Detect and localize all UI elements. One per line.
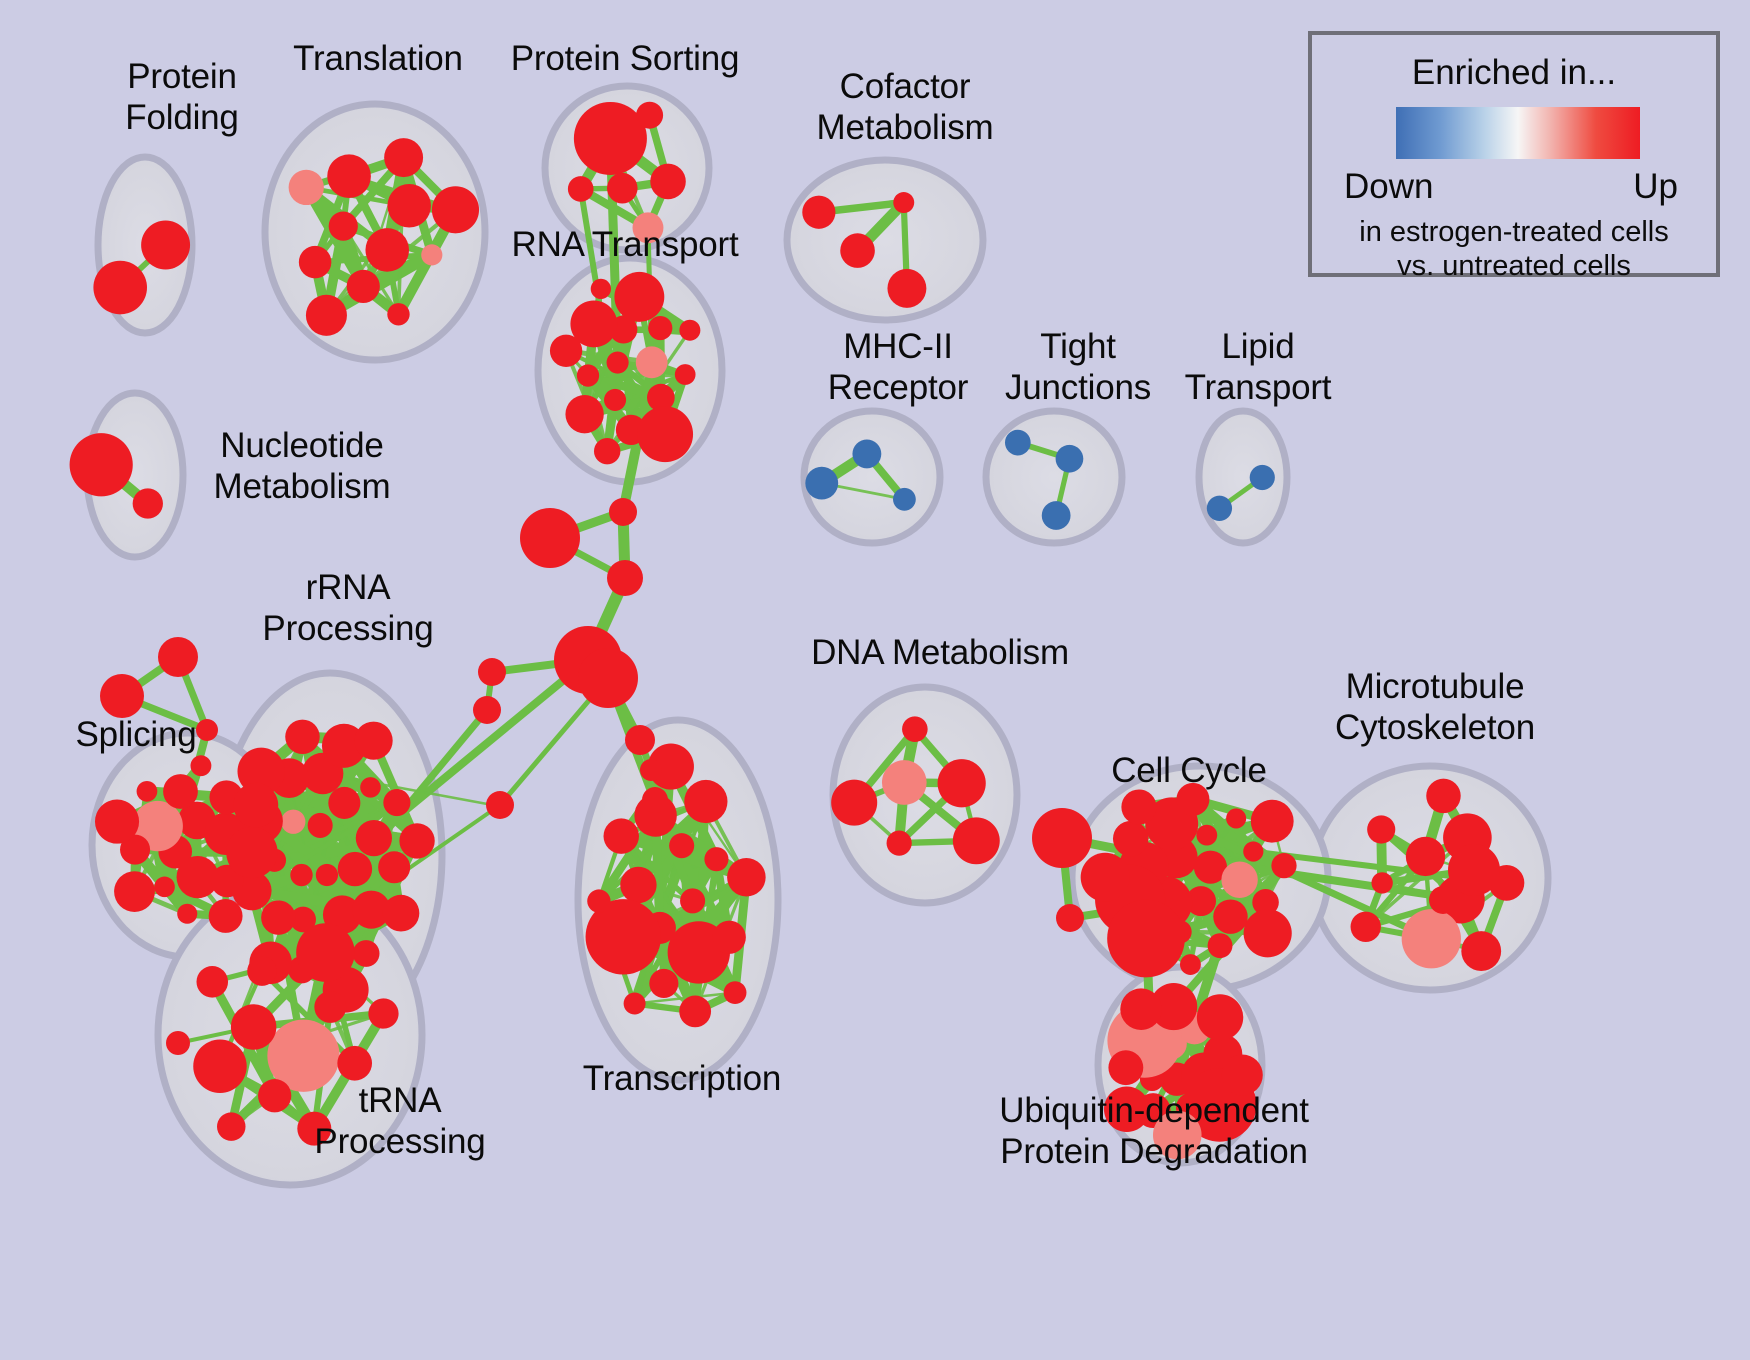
network-node[interactable] [713, 921, 746, 954]
network-node[interactable] [648, 316, 672, 340]
network-node[interactable] [368, 998, 398, 1028]
network-node[interactable] [486, 791, 514, 819]
network-node[interactable] [1180, 954, 1201, 975]
legend-up-label: Up [1633, 167, 1678, 207]
network-node[interactable] [384, 138, 423, 177]
network-node[interactable] [217, 1112, 245, 1140]
network-node[interactable] [893, 488, 916, 511]
network-node[interactable] [233, 783, 278, 828]
network-node[interactable] [1448, 844, 1500, 896]
network-node[interactable] [704, 847, 728, 871]
network-node[interactable] [355, 722, 393, 760]
network-node[interactable] [100, 674, 144, 718]
network-node[interactable] [329, 211, 358, 240]
network-node[interactable] [308, 813, 333, 838]
network-node[interactable] [347, 270, 380, 303]
legend-subtitle-line2: vs. untreated cells [1397, 250, 1631, 282]
network-figure: Protein FoldingTranslationProtein Sortin… [0, 0, 1750, 1360]
network-node[interactable] [281, 810, 305, 834]
cluster-label-microtubule-cytoskeleton: Microtubule Cytoskeleton [1300, 666, 1570, 748]
network-node[interactable] [604, 389, 626, 411]
legend-subtitle: in estrogen-treated cellsvs. untreated c… [1312, 215, 1716, 283]
network-node[interactable] [953, 817, 1000, 864]
network-node[interactable] [353, 940, 380, 967]
network-node[interactable] [383, 895, 420, 932]
network-node[interactable] [614, 272, 664, 322]
network-node[interactable] [642, 787, 668, 813]
network-node[interactable] [1250, 465, 1275, 490]
network-node[interactable] [887, 269, 926, 308]
network-node[interactable] [620, 867, 656, 903]
network-node[interactable] [378, 851, 410, 883]
network-node[interactable] [624, 993, 646, 1015]
network-node[interactable] [680, 888, 705, 913]
network-node[interactable] [938, 759, 986, 807]
network-node[interactable] [604, 818, 639, 853]
network-node[interactable] [594, 438, 620, 464]
cluster-label-protein-folding: Protein Folding [82, 56, 282, 138]
network-node[interactable] [95, 800, 139, 844]
cluster-label-nucleotide-metabolism: Nucleotide Metabolism [192, 425, 412, 507]
network-node[interactable] [636, 102, 663, 129]
network-node[interactable] [190, 755, 211, 776]
network-node[interactable] [802, 196, 835, 229]
network-node[interactable] [285, 720, 319, 754]
network-node[interactable] [1271, 853, 1296, 878]
network-node[interactable] [852, 439, 881, 468]
network-node[interactable] [290, 864, 312, 886]
network-node[interactable] [70, 433, 133, 496]
network-node[interactable] [568, 176, 594, 202]
network-node[interactable] [316, 864, 338, 886]
network-node[interactable] [669, 833, 694, 858]
network-node[interactable] [306, 295, 347, 336]
network-node[interactable] [399, 823, 434, 858]
network-node[interactable] [1081, 853, 1130, 902]
network-node[interactable] [133, 488, 163, 518]
legend-down-label: Down [1344, 167, 1433, 207]
network-node[interactable] [387, 184, 430, 227]
network-node[interactable] [1371, 872, 1392, 893]
network-node[interactable] [421, 244, 442, 265]
network-node[interactable] [360, 777, 381, 798]
legend-panel: Enriched in... Down Up in estrogen-treat… [1308, 31, 1720, 277]
network-node[interactable] [587, 889, 610, 912]
network-node[interactable] [637, 406, 693, 462]
network-node[interactable] [1197, 994, 1243, 1040]
network-node[interactable] [577, 364, 599, 386]
network-node[interactable] [591, 279, 611, 299]
network-node[interactable] [882, 760, 927, 805]
network-node[interactable] [1251, 800, 1294, 843]
network-node[interactable] [1032, 808, 1092, 868]
network-node[interactable] [209, 899, 243, 933]
network-node[interactable] [1461, 931, 1501, 971]
network-node[interactable] [550, 335, 582, 367]
network-node[interactable] [1426, 779, 1460, 813]
network-node[interactable] [636, 346, 668, 378]
network-node[interactable] [387, 303, 409, 325]
cluster-label-rrna-processing: rRNA Processing [248, 567, 448, 649]
cluster-label-cell-cycle: Cell Cycle [1094, 750, 1284, 791]
network-node[interactable] [1005, 430, 1031, 456]
network-node[interactable] [650, 164, 686, 200]
network-node[interactable] [887, 831, 912, 856]
network-node[interactable] [1429, 886, 1457, 914]
network-node[interactable] [1351, 912, 1381, 942]
network-node[interactable] [1120, 988, 1162, 1030]
network-node[interactable] [684, 780, 727, 823]
network-node[interactable] [93, 261, 147, 315]
network-node[interactable] [805, 467, 838, 500]
network-node[interactable] [158, 637, 198, 677]
network-node[interactable] [365, 228, 409, 272]
network-node[interactable] [1226, 808, 1246, 828]
network-node[interactable] [625, 725, 655, 755]
network-node[interactable] [675, 364, 696, 385]
network-node[interactable] [478, 658, 506, 686]
network-node[interactable] [1221, 862, 1257, 898]
network-node[interactable] [338, 852, 372, 886]
network-node[interactable] [177, 904, 197, 924]
network-node[interactable] [831, 780, 877, 826]
cluster-hull [787, 160, 983, 320]
network-node[interactable] [565, 395, 603, 433]
cluster-label-dna-metabolism: DNA Metabolism [800, 632, 1080, 673]
cluster-label-rna-transport: RNA Transport [500, 224, 750, 265]
network-node[interactable] [607, 560, 643, 596]
cluster-label-transcription: Transcription [562, 1058, 802, 1099]
cluster-label-cofactor-metabolism: Cofactor Metabolism [790, 66, 1020, 148]
network-node[interactable] [893, 192, 914, 213]
network-node[interactable] [1367, 815, 1395, 843]
network-node[interactable] [1244, 909, 1292, 957]
legend-title: Enriched in... [1312, 53, 1716, 93]
network-node[interactable] [607, 351, 629, 373]
network-node[interactable] [289, 170, 324, 205]
network-node[interactable] [1208, 933, 1233, 958]
network-node[interactable] [226, 827, 277, 878]
network-node[interactable] [193, 1040, 246, 1093]
cluster-label-mhc-ii-receptor: MHC-II Receptor [798, 326, 998, 408]
network-node[interactable] [578, 648, 638, 708]
network-node[interactable] [1243, 841, 1263, 861]
network-node[interactable] [261, 900, 295, 934]
legend-color-bar [1396, 107, 1640, 159]
network-node[interactable] [1056, 445, 1084, 473]
network-node[interactable] [247, 956, 277, 986]
network-node[interactable] [1113, 821, 1149, 857]
network-node[interactable] [299, 246, 332, 279]
network-node[interactable] [609, 498, 637, 526]
cluster-label-tight-junctions: Tight Junctions [978, 326, 1178, 408]
network-node[interactable] [1107, 900, 1185, 978]
network-node[interactable] [296, 923, 355, 982]
network-node[interactable] [1207, 496, 1232, 521]
network-node[interactable] [137, 781, 158, 802]
network-node[interactable] [154, 877, 175, 898]
network-node[interactable] [1121, 789, 1156, 824]
network-node[interactable] [649, 969, 678, 998]
cluster-label-lipid-transport: Lipid Transport [1158, 326, 1358, 408]
network-node[interactable] [902, 716, 928, 742]
network-node[interactable] [1213, 899, 1247, 933]
network-node[interactable] [640, 759, 662, 781]
network-node[interactable] [1042, 501, 1071, 530]
network-node[interactable] [141, 221, 190, 270]
network-node[interactable] [1402, 909, 1461, 968]
network-node[interactable] [727, 858, 766, 897]
network-node[interactable] [520, 508, 580, 568]
cluster-label-ubiquitin-degradation: Ubiquitin-dependent Protein Degradation [984, 1090, 1324, 1172]
network-node[interactable] [231, 1004, 276, 1049]
cluster-label-protein-sorting: Protein Sorting [500, 38, 750, 79]
network-node[interactable] [356, 820, 392, 856]
network-node[interactable] [327, 154, 371, 198]
network-node[interactable] [679, 320, 700, 341]
network-node[interactable] [679, 995, 711, 1027]
network-node[interactable] [166, 1031, 190, 1055]
network-node[interactable] [337, 1046, 372, 1081]
network-node[interactable] [1056, 904, 1084, 932]
legend-subtitle-line1: in estrogen-treated cells [1359, 216, 1669, 248]
cluster-label-translation: Translation [268, 38, 488, 79]
network-node[interactable] [163, 774, 198, 809]
network-node[interactable] [196, 966, 228, 998]
network-node[interactable] [574, 102, 647, 175]
network-node[interactable] [607, 173, 638, 204]
network-node[interactable] [724, 981, 747, 1004]
cluster-label-trna-processing: tRNA Processing [300, 1080, 500, 1162]
network-node[interactable] [473, 696, 501, 724]
cluster-label-splicing: Splicing [56, 714, 216, 755]
network-node[interactable] [258, 1079, 291, 1112]
network-node[interactable] [840, 233, 875, 268]
network-node[interactable] [114, 871, 155, 912]
network-node[interactable] [1406, 837, 1445, 876]
network-node[interactable] [1196, 825, 1217, 846]
network-node[interactable] [432, 186, 479, 233]
network-node[interactable] [328, 787, 360, 819]
network-node[interactable] [1108, 1050, 1143, 1085]
network-node[interactable] [314, 991, 346, 1023]
network-node[interactable] [383, 789, 410, 816]
